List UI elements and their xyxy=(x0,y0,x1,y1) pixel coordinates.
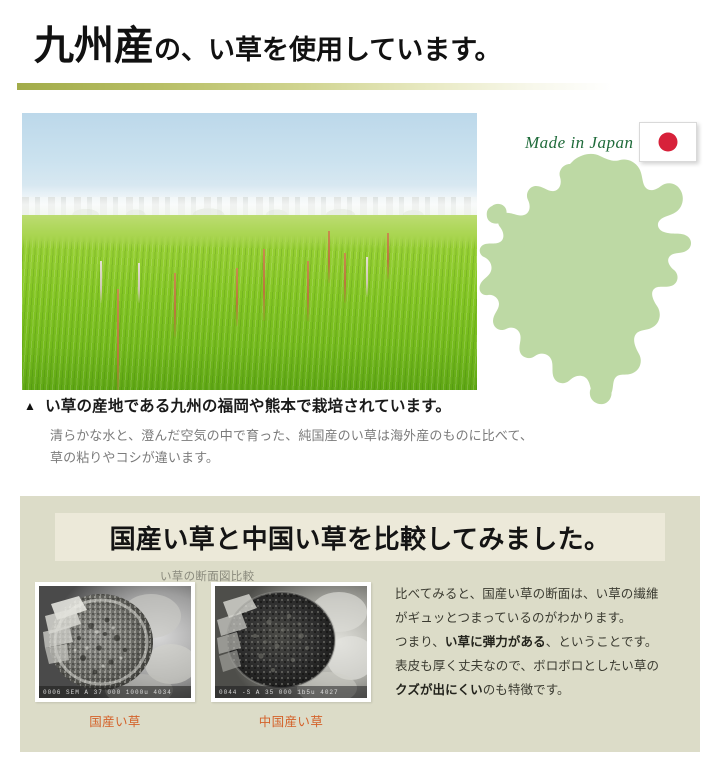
domestic-igusa-frame: 0006 SEM A 37 000 1000u 4034 xyxy=(35,582,195,702)
field-stake xyxy=(236,268,238,326)
field-stake xyxy=(174,273,176,337)
photo-grass-far xyxy=(22,215,477,248)
field-stake xyxy=(263,249,265,321)
caption-headline: い草の産地である九州の福岡や熊本で栽培されています。 xyxy=(45,396,451,418)
domestic-igusa-caption: 国産い草 xyxy=(35,711,195,730)
comparison-panel: 国産い草と中国い草を比較してみました。 い草の断面図比較 xyxy=(20,496,700,752)
text-bold: い草に弾力がある xyxy=(445,635,546,649)
comparison-text-line: つまり、い草に弾力がある、ということです。 xyxy=(395,630,695,654)
caption-body-line: 草の粘りやコシが違います。 xyxy=(50,447,684,470)
comparison-text-line: 表皮も厚く丈夫なので、ボロボロとしたい草の xyxy=(395,654,695,678)
japan-flag-icon xyxy=(639,122,697,162)
field-stake xyxy=(366,257,368,297)
field-stake xyxy=(117,289,119,390)
text-bold: クズが出にくい xyxy=(395,683,483,697)
comparison-text-line: クズが出にくいのも特徴です。 xyxy=(395,678,695,702)
field-stake xyxy=(307,261,309,321)
made-in-japan-label: Made in Japan xyxy=(525,133,633,153)
field-stake xyxy=(138,263,140,303)
domestic-igusa-micrograph: 0006 SEM A 37 000 1000u 4034 xyxy=(39,586,191,698)
triangle-bullet-icon: ▲ xyxy=(24,396,36,416)
comparison-body-text: 比べてみると、国産い草の断面は、い草の繊維 がギュッとつまっているのがわかります… xyxy=(395,582,695,702)
micrograph-overlay-text: 0006 SEM A 37 000 1000u 4034 xyxy=(43,689,188,697)
field-stake xyxy=(328,231,330,283)
field-stake xyxy=(344,253,346,303)
field-stake xyxy=(387,233,389,279)
text-post: のも特徴です。 xyxy=(483,683,570,697)
page-title-emphasis: 九州産 xyxy=(34,23,154,68)
domestic-igusa-card: 0006 SEM A 37 000 1000u 4034 国産い草 xyxy=(35,582,195,730)
caption-headline-row: ▲ い草の産地である九州の福岡や熊本で栽培されています。 xyxy=(24,396,684,418)
kyushu-map xyxy=(478,138,710,410)
comparison-text-line: がギュッとつまっているのがわかります。 xyxy=(395,606,695,630)
field-stake xyxy=(100,261,102,303)
photo-caption-block: ▲ い草の産地である九州の福岡や熊本で栽培されています。 清らかな水と、澄んだ空… xyxy=(24,396,684,470)
comparison-heading-band: 国産い草と中国い草を比較してみました。 xyxy=(55,513,665,561)
caption-body-line: 清らかな水と、澄んだ空気の中で育った、純国産のい草は海外産のものに比べて、 xyxy=(50,425,684,448)
chinese-igusa-card: 0044 -S A 35 000 1b5u 4027 中国産い草 xyxy=(211,582,371,730)
header-gradient-divider xyxy=(17,83,612,90)
chinese-igusa-caption: 中国産い草 xyxy=(211,711,371,730)
text-pre: つまり、 xyxy=(395,635,445,649)
text-post: 、ということです。 xyxy=(546,635,658,649)
page-title-rest: の、い草を使用しています。 xyxy=(154,35,502,65)
comparison-text-line: 比べてみると、国産い草の断面は、い草の繊維 xyxy=(395,582,695,606)
page-title: 九州産の、い草を使用しています。 xyxy=(34,26,502,66)
micrograph-overlay-text: 0044 -S A 35 000 1b5u 4027 xyxy=(219,689,364,697)
flag-red-circle xyxy=(659,133,678,152)
chinese-igusa-micrograph: 0044 -S A 35 000 1b5u 4027 xyxy=(215,586,367,698)
caption-body: 清らかな水と、澄んだ空気の中で育った、純国産のい草は海外産のものに比べて、 草の… xyxy=(50,425,684,471)
page-header: 九州産の、い草を使用しています。 xyxy=(0,0,720,100)
chinese-igusa-frame: 0044 -S A 35 000 1b5u 4027 xyxy=(211,582,371,702)
comparison-heading: 国産い草と中国い草を比較してみました。 xyxy=(55,513,665,561)
igusa-field-photo xyxy=(22,113,477,390)
